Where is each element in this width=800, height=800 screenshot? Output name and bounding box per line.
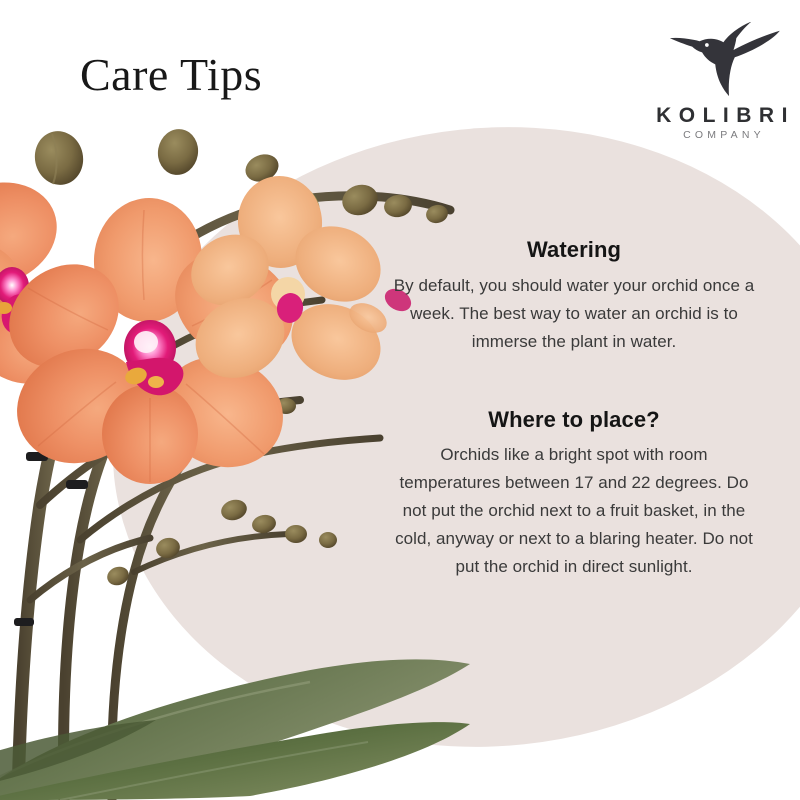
care-tips-poster: Care Tips KOLIBRI COMPANY Watering By de… [0,0,800,800]
page-title: Care Tips [80,52,262,98]
brand-logo: KOLIBRI COMPANY [648,22,796,142]
care-section-placement: Where to place? Orchids like a bright sp… [390,406,758,582]
brand-name: KOLIBRI [648,104,796,127]
brand-tagline: COMPANY [648,130,796,142]
hummingbird-icon [663,22,781,100]
care-section-watering: Watering By default, you should water yo… [390,236,758,356]
care-tips-content: Watering By default, you should water yo… [390,236,758,581]
section-heading-watering: Watering [390,236,758,265]
section-body-watering: By default, you should water your orchid… [390,272,758,356]
section-body-placement: Orchids like a bright spot with room tem… [390,441,758,581]
section-heading-placement: Where to place? [390,406,758,435]
